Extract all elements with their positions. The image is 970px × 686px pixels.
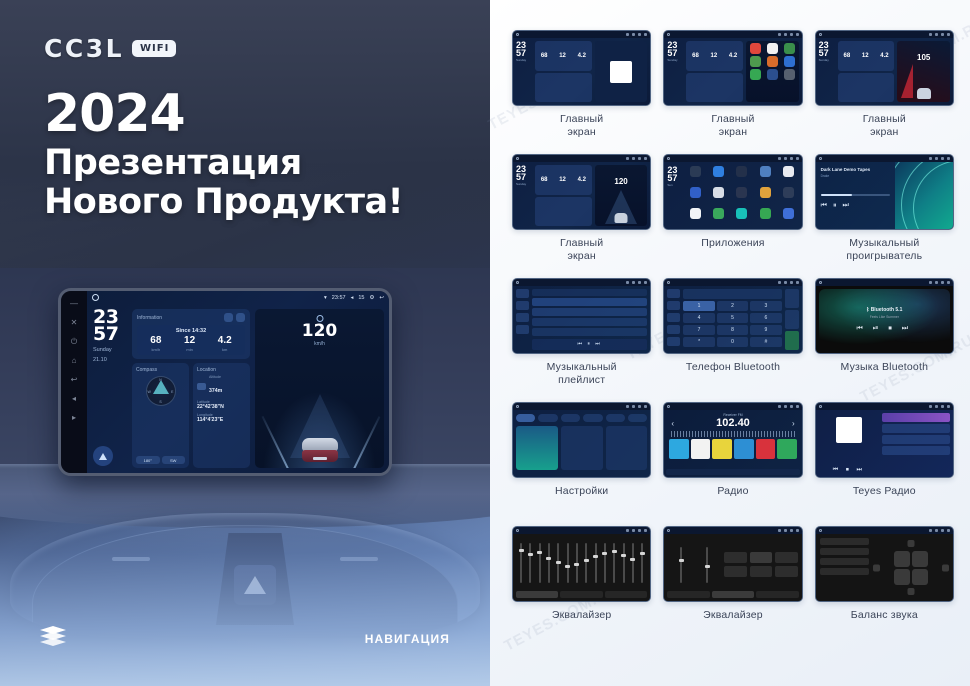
screen-label: Телефон Bluetooth bbox=[686, 361, 780, 374]
radio-presets[interactable] bbox=[667, 439, 798, 459]
screen-thumbnail-home-apps[interactable]: 2357Sunday 68124.2 bbox=[663, 30, 802, 106]
screen-thumbnail-bluetooth-music[interactable]: ᛒ Bluetooth 5.1 Feels Like Summer ⏮ ⏯ ⏹ … bbox=[815, 278, 954, 354]
widgets-column: Information Since 14:32 68 bbox=[132, 309, 250, 468]
information-header: Information bbox=[137, 313, 245, 322]
radio-scale[interactable] bbox=[671, 431, 794, 437]
grid-item[interactable]: Баланс звука bbox=[815, 526, 954, 646]
volume-down-icon[interactable]: ◂ bbox=[70, 394, 79, 403]
equalizer-sliders[interactable] bbox=[516, 537, 647, 583]
screen-thumbnail-apps[interactable]: 2357Sun bbox=[663, 154, 802, 230]
grid-item[interactable]: ⏮ ⏹ ⏭ Teyes Радио bbox=[815, 402, 954, 522]
screen-label: Музыка Bluetooth bbox=[841, 361, 929, 374]
compass-s: S bbox=[159, 400, 161, 404]
screen-thumbnail-home-road-red[interactable]: 2357Sunday 68124.2 105 bbox=[815, 30, 954, 106]
location-card[interactable]: Location Altitude 374m Latitude bbox=[193, 363, 250, 468]
album-art bbox=[836, 417, 862, 443]
balance-pad[interactable] bbox=[873, 538, 949, 597]
location-latitude-row: Latitude 22°42'38"N bbox=[197, 400, 246, 410]
head-unit: — ✕ ⏻ ⌂ ↩ ◂ ▸ ▾ 23:57 ◂ 15 ⚙ ↩ bbox=[58, 288, 392, 476]
grid-item[interactable]: 123 456 789 *0# Телефон Bluetooth bbox=[663, 278, 802, 398]
track-title: Dark Lane Demo Tapes bbox=[821, 167, 891, 172]
grid-item[interactable]: 2357Sunday 68124.2 105 Главный экран bbox=[815, 30, 954, 150]
back-icon[interactable]: ↩ bbox=[70, 375, 79, 384]
status-bar: ▾ 23:57 ◂ 15 ⚙ ↩ bbox=[87, 291, 389, 304]
hero-line-1: Презентация bbox=[44, 144, 403, 183]
trip-stat-unit: min bbox=[184, 347, 195, 352]
location-longitude-row: Longitude 114°4'23"E bbox=[197, 413, 246, 423]
power-icon[interactable]: ⏻ bbox=[70, 337, 79, 346]
clock-day: Sunday bbox=[93, 347, 127, 354]
clock-widget: 23 57 Sunday 21.10 bbox=[93, 309, 127, 364]
screen-thumbnail-bluetooth-phone[interactable]: 123 456 789 *0# bbox=[663, 278, 802, 354]
location-altitude-row: Altitude 374m bbox=[197, 375, 246, 397]
page-title: 2024 Презентация Нового Продукта! bbox=[44, 88, 403, 222]
trip-stat-unit: km bbox=[218, 347, 232, 352]
trip-stat: 12 min bbox=[184, 336, 195, 352]
thumb-speed-value: 120 bbox=[595, 177, 648, 186]
hero-line-2: Нового Продукта! bbox=[44, 183, 403, 222]
balance-left-button[interactable] bbox=[873, 564, 880, 571]
screen-label: Приложения bbox=[701, 237, 764, 250]
grid-item[interactable]: Эквалайзер bbox=[512, 526, 651, 646]
compass-readouts: 180° SW bbox=[136, 456, 185, 464]
screen-thumbnail-home-road-blue[interactable]: 2357Sunday 68124.2 120 bbox=[512, 154, 651, 230]
prev-station-button[interactable]: ‹ bbox=[671, 419, 674, 428]
altitude-label: Altitude bbox=[209, 375, 222, 379]
layers-icon[interactable] bbox=[40, 626, 66, 648]
compass-cone-icon bbox=[153, 380, 169, 394]
compass-w: W bbox=[148, 390, 151, 394]
trip-stat-unit: km/h bbox=[150, 347, 161, 352]
bluetooth-icon: ᛒ bbox=[866, 307, 869, 313]
screens-grid: 2357Sunday 68124.2 Главный экран bbox=[512, 30, 954, 646]
screen-thumbnail-music-player[interactable]: Dark Lane Demo Tapes Drake ⏮⏸⏭ bbox=[815, 154, 954, 230]
trip-stats: 68 km/h 12 min 4.2 km bbox=[139, 336, 243, 352]
home-icon[interactable] bbox=[92, 294, 99, 301]
screen-label: Teyes Радио bbox=[853, 485, 916, 498]
compass-card[interactable]: Compass N E S W 180° S bbox=[132, 363, 189, 468]
information-card[interactable]: Information Since 14:32 68 bbox=[132, 309, 250, 359]
back-icon[interactable]: ↩ bbox=[379, 295, 384, 301]
navigation-label: НАВИГАЦИЯ bbox=[365, 632, 450, 646]
hero-panel: CC3L WIFI 2024 Презентация Нового Продук… bbox=[0, 0, 490, 686]
speed-value: 120 bbox=[255, 323, 384, 340]
screen-thumbnail-playlist[interactable]: ⏮ ⏸ ⏭ bbox=[512, 278, 651, 354]
radio-frequency: 102.40 bbox=[716, 417, 750, 429]
widgets-row: Compass N E S W 180° S bbox=[132, 363, 250, 468]
road-line-right bbox=[347, 416, 380, 468]
screens-gallery-panel: TEYES.COM.RU TEYES.COM.RU TEYES.COM.RU T… bbox=[490, 0, 970, 686]
altitude-value: 374m bbox=[209, 388, 222, 394]
grid-item[interactable]: 2357Sun bbox=[663, 154, 802, 274]
mountain-icon bbox=[197, 383, 206, 390]
compass-n: N bbox=[159, 378, 162, 382]
grid-item[interactable]: 2357Sunday 68124.2 Главный экран bbox=[512, 30, 651, 150]
navigation-icon[interactable] bbox=[93, 446, 113, 466]
status-volume: 15 bbox=[358, 295, 364, 301]
location-title: Location bbox=[197, 367, 246, 373]
trip-since: Since 14:32 bbox=[139, 328, 243, 334]
wifi-badge: WIFI bbox=[132, 40, 176, 57]
screen-thumbnail-teyes-radio[interactable]: ⏮ ⏹ ⏭ bbox=[815, 402, 954, 478]
clock-date: 21.10 bbox=[93, 357, 127, 364]
screen-thumbnail-home-media[interactable]: 2357Sunday 68124.2 bbox=[512, 30, 651, 106]
grid-item[interactable]: ⏮ ⏸ ⏭ Музыкальный плейлист bbox=[512, 278, 651, 398]
screen-label: Радио bbox=[717, 485, 748, 498]
expand-icon[interactable] bbox=[236, 313, 245, 322]
grid-item[interactable]: Dark Lane Demo Tapes Drake ⏮⏸⏭ Муз bbox=[815, 154, 954, 274]
latitude-value: 22°42'38"N bbox=[197, 404, 246, 410]
trip-stat-value: 4.2 bbox=[218, 336, 232, 346]
wifi-icon[interactable] bbox=[516, 426, 558, 470]
clock-column: 23 57 Sunday 21.10 bbox=[93, 309, 127, 468]
road-visualization bbox=[255, 380, 384, 468]
clock-minutes: 57 bbox=[93, 326, 127, 343]
screen-label: Музыкальный плейлист bbox=[547, 361, 617, 387]
screen-label: Музыкальный проигрыватель bbox=[846, 237, 922, 263]
head-unit-screen: ▾ 23:57 ◂ 15 ⚙ ↩ 23 57 Sunday bbox=[87, 291, 389, 473]
screen-label: Настройки bbox=[555, 485, 608, 498]
mute-icon[interactable]: ✕ bbox=[70, 318, 79, 327]
bt-device: Bluetooth 5.1 bbox=[871, 307, 903, 313]
compass-dial: N E S W bbox=[146, 376, 176, 406]
hero-year: 2024 bbox=[44, 88, 403, 141]
compass-e: E bbox=[171, 390, 173, 394]
information-actions[interactable] bbox=[224, 313, 245, 322]
screen-label: Главный экран bbox=[560, 113, 603, 139]
trip-stat: 68 km/h bbox=[150, 336, 161, 352]
head-unit-body: 23 57 Sunday 21.10 Information bbox=[87, 304, 389, 473]
screen-thumbnail-sound-balance[interactable] bbox=[815, 526, 954, 602]
balance-up-button[interactable] bbox=[907, 540, 914, 547]
wifi-icon: ▾ bbox=[324, 295, 327, 301]
speed-unit: km/h bbox=[255, 341, 384, 347]
minus-icon[interactable]: — bbox=[70, 299, 79, 308]
screen-thumbnail-equalizer-simple[interactable] bbox=[663, 526, 802, 602]
screen-thumbnail-radio[interactable]: Receiver FM ‹ 102.40 › bbox=[663, 402, 802, 478]
car-rear bbox=[302, 450, 338, 462]
settings-icon[interactable]: ⚙ bbox=[369, 295, 374, 301]
car-illustration bbox=[302, 438, 338, 462]
volume-up-icon[interactable]: ▸ bbox=[70, 413, 79, 422]
trip-stat: 4.2 km bbox=[218, 336, 232, 352]
status-time: 23:57 bbox=[332, 295, 346, 301]
screen-thumbnail-settings[interactable] bbox=[512, 402, 651, 478]
speed-navigation-card[interactable]: 120 km/h bbox=[255, 309, 384, 468]
compass-heading: 180° bbox=[136, 456, 160, 464]
volume-icon: ◂ bbox=[351, 295, 354, 301]
grid-item[interactable]: Настройки bbox=[512, 402, 651, 522]
next-station-button[interactable]: › bbox=[792, 419, 795, 428]
compass-direction: SW bbox=[162, 456, 186, 464]
screen-thumbnail-equalizer-bands[interactable] bbox=[512, 526, 651, 602]
compass-title: Compass bbox=[136, 367, 185, 373]
screen-label: Баланс звука bbox=[851, 609, 918, 622]
screen-label: Главный экран bbox=[863, 113, 906, 139]
thumb-speed-value: 105 bbox=[897, 53, 950, 62]
refresh-icon[interactable] bbox=[224, 313, 233, 322]
home-icon[interactable]: ⌂ bbox=[70, 356, 79, 365]
dashboard-light-haze bbox=[0, 496, 490, 686]
trip-stat-value: 12 bbox=[184, 336, 195, 346]
screen-label: Эквалайзер bbox=[552, 609, 612, 622]
head-unit-side-buttons[interactable]: — ✕ ⏻ ⌂ ↩ ◂ ▸ bbox=[61, 291, 87, 473]
grid-item[interactable]: ᛒ Bluetooth 5.1 Feels Like Summer ⏮ ⏯ ⏹ … bbox=[815, 278, 954, 398]
status-bar-right: ▾ 23:57 ◂ 15 ⚙ ↩ bbox=[324, 295, 384, 301]
screen-label: Главный экран bbox=[711, 113, 754, 139]
grid-item[interactable]: 2357Sunday 68124.2 bbox=[663, 30, 802, 150]
product-logo: CC3L WIFI bbox=[44, 34, 176, 63]
screen-label: Главный экран bbox=[560, 237, 603, 263]
logo-text: CC3L bbox=[44, 34, 124, 63]
trip-stat-value: 68 bbox=[150, 336, 161, 346]
bt-track: Feels Like Summer bbox=[857, 315, 913, 319]
balance-right-button[interactable] bbox=[942, 564, 949, 571]
balance-down-button[interactable] bbox=[907, 588, 914, 595]
car-plate bbox=[313, 457, 327, 460]
information-title: Information bbox=[137, 315, 162, 321]
screen-label: Эквалайзер bbox=[703, 609, 763, 622]
grid-item[interactable]: 2357Sunday 68124.2 120 Главный экран bbox=[512, 154, 651, 274]
grid-item[interactable]: Эквалайзер bbox=[663, 526, 802, 646]
grid-item[interactable]: Receiver FM ‹ 102.40 › bbox=[663, 402, 802, 522]
longitude-value: 114°4'23"E bbox=[197, 417, 246, 423]
